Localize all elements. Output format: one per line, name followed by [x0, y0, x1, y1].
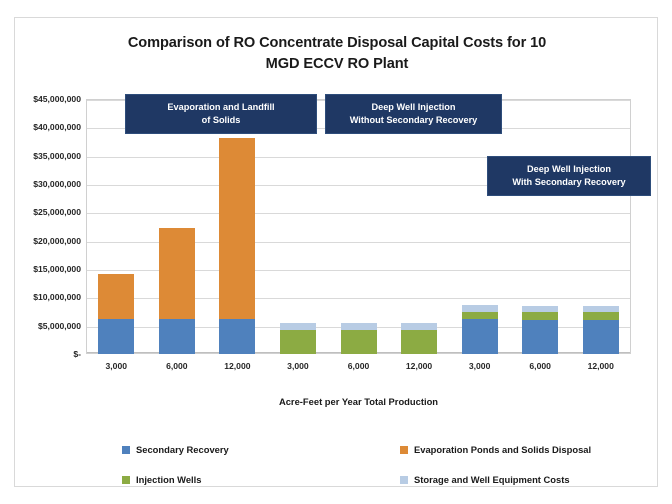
legend-item-injection-wells: Injection Wells [122, 474, 201, 485]
bar-segment-injection-wells [462, 312, 498, 320]
bar-segment-secondary-recovery [462, 319, 498, 354]
bar-segment-injection-wells [341, 330, 377, 354]
bar-segment-injection-wells [280, 330, 316, 354]
legend-label-storage-well-equipment: Storage and Well Equipment Costs [414, 474, 570, 485]
bar-column [401, 99, 437, 354]
y-axis-tick-label: $35,000,000 [1, 151, 81, 161]
x-axis-tick-label: 6,000 [529, 361, 551, 371]
legend-swatch-evaporation-ponds [400, 446, 408, 454]
bar-column [219, 99, 255, 354]
annotation-dwi-without-line-1: Deep Well Injection [350, 101, 478, 114]
legend-swatch-secondary-recovery [122, 446, 130, 454]
bar-column [583, 99, 619, 354]
annotation-evaporation-line-1: Evaporation and Landfill [167, 101, 274, 114]
y-axis-tick-label: $15,000,000 [1, 264, 81, 274]
bar-segment-secondary-recovery [98, 319, 134, 354]
bar-stack [98, 274, 134, 354]
annotation-evaporation-line-2: of Solids [167, 114, 274, 127]
legend-item-storage-well-equipment: Storage and Well Equipment Costs [400, 474, 570, 485]
y-axis-tick-label: $25,000,000 [1, 207, 81, 217]
bar-segment-injection-wells [522, 312, 558, 320]
x-axis-tick-label: 3,000 [287, 361, 309, 371]
annotation-dwi-without-line-2: Without Secondary Recovery [350, 114, 478, 127]
legend-label-secondary-recovery: Secondary Recovery [136, 444, 229, 455]
x-axis-tick-label: 12,000 [406, 361, 432, 371]
y-axis-tick-label: $20,000,000 [1, 236, 81, 246]
bar-segment-injection-wells [401, 330, 437, 354]
bar-segment-evaporation-ponds [159, 228, 195, 319]
bar-stack [219, 138, 255, 354]
bar-stack [462, 305, 498, 354]
bar-stack [341, 323, 377, 354]
y-axis-tick-label: $40,000,000 [1, 122, 81, 132]
chart-title-line-1: Comparison of RO Concentrate Disposal Ca… [55, 33, 619, 54]
y-axis-tick-label: $5,000,000 [1, 321, 81, 331]
y-axis-tick-label: $10,000,000 [1, 292, 81, 302]
legend-item-secondary-recovery: Secondary Recovery [122, 444, 229, 455]
y-axis-tick-label: $45,000,000 [1, 94, 81, 104]
y-axis-tick-labels: $45,000,000$40,000,000$35,000,000$30,000… [1, 99, 81, 354]
chart-title-line-2: MGD ECCV RO Plant [55, 54, 619, 75]
bar-stack [159, 228, 195, 354]
bar-column [280, 99, 316, 354]
bar-column [98, 99, 134, 354]
bar-segment-secondary-recovery [583, 320, 619, 354]
legend-swatch-storage-well-equipment [400, 476, 408, 484]
annotation-dwi-with-line-1: Deep Well Injection [512, 163, 625, 176]
chart-frame: Comparison of RO Concentrate Disposal Ca… [14, 17, 658, 487]
annotation-dwi-with-line-2: With Secondary Recovery [512, 176, 625, 189]
x-axis-tick-label: 6,000 [166, 361, 188, 371]
bar-stack [401, 323, 437, 354]
x-axis-tick-labels: 3,0006,00012,0003,0006,00012,0003,0006,0… [86, 361, 631, 379]
bar-segment-evaporation-ponds [219, 138, 255, 319]
bar-stack [583, 306, 619, 354]
bar-column [341, 99, 377, 354]
bar-segment-secondary-recovery [159, 319, 195, 354]
x-axis-title: Acre-Feet per Year Total Production [86, 396, 631, 407]
annotation-deep-well-injection-without-secondary-recovery: Deep Well Injection Without Secondary Re… [325, 94, 502, 134]
bar-segment-secondary-recovery [522, 320, 558, 354]
x-axis-tick-label: 12,000 [224, 361, 250, 371]
bar-segment-storage-well-equipment [401, 323, 437, 330]
y-axis-tick-label: $30,000,000 [1, 179, 81, 189]
bar-series-container [86, 99, 631, 354]
x-axis-tick-label: 6,000 [348, 361, 370, 371]
legend-label-injection-wells: Injection Wells [136, 474, 201, 485]
annotation-evaporation-landfill: Evaporation and Landfill of Solids [125, 94, 317, 134]
legend-swatch-injection-wells [122, 476, 130, 484]
bar-column [522, 99, 558, 354]
bar-column [159, 99, 195, 354]
chart-legend: Secondary Recovery Evaporation Ponds and… [100, 430, 640, 490]
legend-label-evaporation-ponds: Evaporation Ponds and Solids Disposal [414, 444, 591, 455]
bar-segment-injection-wells [583, 312, 619, 320]
bar-segment-storage-well-equipment [280, 323, 316, 330]
bar-stack [522, 306, 558, 354]
bar-segment-storage-well-equipment [341, 323, 377, 330]
x-axis-tick-label: 12,000 [588, 361, 614, 371]
bar-segment-evaporation-ponds [98, 274, 134, 319]
bar-segment-secondary-recovery [219, 319, 255, 354]
y-axis-tick-label: $- [1, 349, 81, 359]
bar-column [462, 99, 498, 354]
x-axis-tick-label: 3,000 [469, 361, 491, 371]
chart-title: Comparison of RO Concentrate Disposal Ca… [55, 33, 619, 74]
legend-item-evaporation-ponds: Evaporation Ponds and Solids Disposal [400, 444, 591, 455]
bar-stack [280, 323, 316, 354]
annotation-deep-well-injection-with-secondary-recovery: Deep Well Injection With Secondary Recov… [487, 156, 651, 196]
x-axis-tick-label: 3,000 [106, 361, 128, 371]
